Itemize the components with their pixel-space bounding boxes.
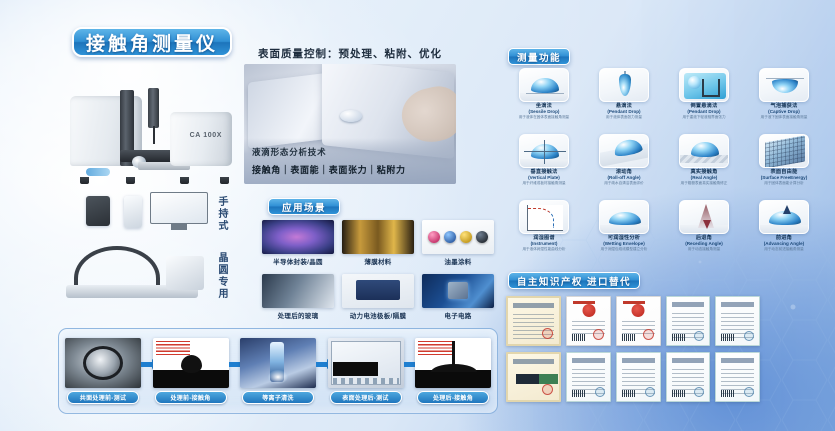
- flow-thumb-plasma-clean: [240, 338, 316, 388]
- cert-emblem: [582, 304, 595, 317]
- droplet-silhouette: [431, 364, 477, 372]
- certificate-item[interactable]: [666, 296, 711, 346]
- function-cell[interactable]: 倒置悬滴法 (Pendant Drop) 用于重液下轻液相界面张力: [666, 68, 742, 128]
- instrument-foot: [220, 177, 229, 184]
- scenario-grid: 半导体封装/晶圆 薄膜材料 油墨涂料 处理: [262, 220, 494, 320]
- flow-arrow-icon: [141, 362, 153, 367]
- real-angle-icon: [679, 134, 729, 168]
- measurement-readout: [418, 341, 452, 357]
- scenario-label: 薄膜材料: [342, 256, 414, 266]
- workstation-monitor: [150, 192, 208, 232]
- battery-electrode-thumb: [342, 274, 414, 308]
- energy-surface-plot: [765, 135, 805, 168]
- instrument-foot: [180, 177, 189, 184]
- infographic-page: 接触角测量仪 CA 100X 手持式 晶圆专用 表面质量控制：预处理、粘附、优化: [0, 0, 835, 431]
- roll-off-angle-icon: [599, 134, 649, 168]
- monitor-screen: [150, 192, 208, 224]
- function-note: 用于液下固体表面接触角测量: [761, 116, 808, 120]
- inverted-pendant-icon: [679, 68, 729, 102]
- vertical-plate-icon: [519, 134, 569, 168]
- ink-cups: [422, 220, 494, 254]
- scenario-item[interactable]: 动力电池极板/隔膜: [342, 274, 414, 320]
- handheld-device-b: [124, 196, 142, 228]
- flow-thumb-contact-angle-before: [153, 338, 229, 388]
- certificate-item[interactable]: [566, 296, 611, 346]
- brand-logo: [86, 168, 110, 176]
- scenario-item[interactable]: 处理后的玻璃: [262, 274, 334, 320]
- software-video-pane: [333, 362, 379, 376]
- scenario-label: 半导体封装/晶圆: [262, 256, 334, 266]
- certificate-item[interactable]: [666, 352, 711, 402]
- function-cell[interactable]: 后退角 (Receding Angle) 用于动态接触角测量: [666, 200, 742, 260]
- flow-step[interactable]: 共面处理前-测试: [65, 338, 141, 404]
- function-note: 用于重液下轻液相界面张力: [682, 116, 725, 120]
- function-note: 用于固体表面能计算分析: [764, 182, 804, 186]
- surface: [760, 225, 808, 233]
- wafer-goniometer-photo: [60, 240, 208, 302]
- scenario-item[interactable]: 薄膜材料: [342, 220, 414, 266]
- flow-step-label: 共面处理前-测试: [67, 391, 139, 404]
- function-cell[interactable]: 气泡捕获法 (Captive Drop) 用于液下固体表面接触角测量: [746, 68, 822, 128]
- droplet: [609, 212, 641, 225]
- function-note: 用于动态前进接触角测量: [764, 248, 804, 252]
- crosshair-horizontal: [524, 151, 566, 152]
- cert-seal: [744, 387, 754, 397]
- function-cell[interactable]: 表面自由能 (Surface FreeEnergy) 用于固体表面能计算分析: [746, 134, 822, 194]
- sessile-drop-icon: [519, 68, 569, 102]
- battery-module: [356, 280, 400, 300]
- handheld-device-a: [86, 196, 110, 226]
- surface-quality-card: 表面质量控制：预处理、粘附、优化 液滴形态分析技术 接触角｜表面能｜表面张力｜粘…: [244, 46, 456, 185]
- receding-arrow-icon: [703, 220, 711, 229]
- certificate-item[interactable]: [715, 296, 760, 346]
- surface: [600, 225, 648, 233]
- electronic-circuit-thumb: [422, 274, 494, 308]
- cert-title-bar: [721, 358, 754, 363]
- function-cell[interactable]: 润湿图谱 (Instrument) 用于液体润湿性能曲线分析: [506, 200, 582, 260]
- certificate-item[interactable]: [506, 296, 561, 346]
- flow-step-label: 等离子清洗: [242, 391, 314, 404]
- certificate-item[interactable]: [616, 352, 661, 402]
- droplet: [531, 78, 559, 93]
- flow-step-label: 处理后-接触角: [417, 391, 489, 404]
- goniometer-camera-box: [166, 256, 204, 290]
- monitor-stand: [171, 224, 187, 230]
- scenario-panel: 半导体封装/晶圆 薄膜材料 油墨涂料 处理: [262, 220, 494, 328]
- caption-overlay: [244, 138, 456, 184]
- function-note: 用于纤维或板材接触角测量: [522, 182, 565, 186]
- droplet: [688, 76, 701, 89]
- function-note: 用于润湿包络线模型建立分析: [601, 248, 648, 252]
- flow-arrow-icon: [229, 362, 241, 367]
- page-title: 接触角测量仪: [72, 27, 232, 57]
- scenario-label: 油墨涂料: [422, 256, 494, 266]
- ink-dot: [428, 231, 440, 243]
- flow-step[interactable]: 表面处理后-测试: [328, 338, 404, 404]
- cert-seal: [595, 387, 605, 397]
- certificate-item[interactable]: [506, 352, 561, 402]
- cert-title-bar: [672, 302, 705, 307]
- cert-title-bar: [513, 359, 554, 364]
- function-cell[interactable]: 滚动角 (Roll-off Angle) 用于疏水自清洁表面评价: [586, 134, 662, 194]
- flow-thumb-contact-angle-after: [415, 338, 491, 388]
- semiconductor-wafer-thumb: [262, 220, 334, 254]
- ink-dot: [444, 231, 456, 243]
- surface-quality-photo: 液滴形态分析技术 接触角｜表面能｜表面张力｜粘附力: [244, 64, 456, 184]
- function-cell[interactable]: 悬滴法 (Pendant Drop) 用于液体表面张力测量: [586, 68, 662, 128]
- cert-title-bar: [672, 358, 705, 363]
- cert-plaque: [516, 374, 558, 384]
- process-flow-strip: 共面处理前-测试 处理前-接触角 等离子清洗: [58, 328, 498, 414]
- instrument-right-body: CA 100X: [170, 112, 232, 166]
- scenario-item[interactable]: 电子电路: [422, 274, 494, 320]
- cert-emblem: [632, 304, 645, 317]
- flow-arrow-icon: [404, 362, 416, 367]
- wetting-chart-icon: [519, 200, 569, 234]
- cert-barcode: [672, 390, 686, 397]
- pendant-drop-icon: [599, 68, 649, 102]
- cert-title-bar: [721, 302, 754, 307]
- scenario-label: 电子电路: [422, 310, 494, 320]
- flow-step[interactable]: 等离子清洗: [240, 338, 316, 404]
- cert-title-bar: [572, 358, 605, 363]
- function-cell[interactable]: 垂直接触法 (Vertical Plate) 用于纤维或板材接触角测量: [506, 134, 582, 194]
- droplet-silhouette: [181, 355, 202, 373]
- droplet: [691, 142, 719, 157]
- wafer-label: 晶圆专用: [214, 252, 229, 300]
- function-note: 用于动态接触角测量: [688, 248, 720, 252]
- cert-title-bar: [622, 358, 655, 363]
- measurement-functions-grid: 坐滴法 (Sessile Drop) 用于液体在固体表面接触角测量 悬滴法 (P…: [506, 68, 822, 260]
- flow-thumb-metal-part: [65, 338, 141, 388]
- cert-barcode: [622, 390, 636, 397]
- certificate-item[interactable]: [566, 352, 611, 402]
- flow-step[interactable]: 处理后-接触角: [415, 338, 491, 404]
- chip: [448, 282, 468, 299]
- flow-step-label: 表面处理后-测试: [330, 391, 402, 404]
- caption-technology: 液滴形态分析技术: [252, 146, 326, 158]
- bubble: [772, 79, 798, 93]
- certificate-row: [506, 352, 760, 402]
- cell-frame: [702, 79, 720, 97]
- treated-glass-thumb: [262, 274, 334, 308]
- main-instrument-photo: CA 100X: [62, 74, 237, 182]
- cert-seal: [542, 384, 553, 395]
- certificate-item[interactable]: [715, 352, 760, 402]
- function-cell[interactable]: 坐滴法 (Sessile Drop) 用于液体在固体表面接触角测量: [506, 68, 582, 128]
- scenario-item[interactable]: 半导体封装/晶圆: [262, 220, 334, 266]
- cert-seal: [645, 387, 655, 397]
- captive-bubble-icon: [759, 68, 809, 102]
- metal-disc: [83, 346, 123, 380]
- film-material-thumb: [342, 220, 414, 254]
- instrument-foot: [80, 177, 89, 184]
- substrate: [415, 370, 491, 388]
- surface: [520, 93, 568, 101]
- function-note: 用于液体润湿性能曲线分析: [522, 248, 565, 252]
- function-cell[interactable]: 前进角 (Advancing Angle) 用于动态前进接触角测量: [746, 200, 822, 260]
- ink-dot: [476, 231, 488, 243]
- instrument-foot: [126, 177, 135, 184]
- certificate-item[interactable]: [616, 296, 661, 346]
- baseline: [766, 78, 804, 79]
- caption-metrics: 接触角｜表面能｜表面张力｜粘附力: [252, 163, 406, 176]
- cert-red-header: [623, 301, 645, 304]
- instrument-model-label: CA 100X: [190, 132, 222, 139]
- scenario-item[interactable]: 油墨涂料: [422, 220, 494, 266]
- flow-arrow-icon: [316, 362, 328, 367]
- function-note: 用于液体在固体表面接触角测量: [519, 116, 569, 120]
- scenario-label: 处理后的玻璃: [262, 310, 334, 320]
- cert-seal: [694, 387, 704, 397]
- certificates-panel: [506, 296, 760, 408]
- cert-barcode: [622, 334, 636, 341]
- wetting-envelope-icon: [599, 200, 649, 234]
- droplet: [619, 74, 631, 96]
- cert-barcode: [572, 390, 586, 397]
- measurement-readout: [156, 341, 190, 357]
- cert-seal: [643, 329, 654, 340]
- software-toolbar: [333, 378, 399, 384]
- instrument-dosing-arm: [148, 88, 159, 128]
- crosshair-vertical: [544, 140, 545, 164]
- surface-energy-icon: [759, 134, 809, 168]
- baseline: [526, 93, 564, 94]
- ink-dot: [460, 231, 472, 243]
- flow-thumb-software-test: [328, 338, 404, 388]
- function-cell[interactable]: 真实接触角 (Real Angle) 用于粗糙表面真实接触角修正: [666, 134, 742, 194]
- advancing-arrow-icon: [783, 205, 791, 214]
- function-note: 用于疏水自清洁表面评价: [604, 182, 644, 186]
- plasma-glow: [268, 370, 288, 384]
- cert-barcode: [572, 334, 586, 341]
- function-note: 用于粗糙表面真实接触角修正: [681, 182, 728, 186]
- instrument-needle: [153, 126, 155, 144]
- surface-quality-title: 表面质量控制：预处理、粘附、优化: [244, 46, 456, 61]
- section-badge-scenario: 应用场景: [268, 198, 340, 215]
- plot-grid: [765, 135, 805, 168]
- scenario-label: 动力电池极板/隔膜: [342, 310, 414, 320]
- cert-seal: [694, 331, 704, 341]
- cert-barcode: [721, 390, 735, 397]
- cert-seal: [593, 329, 604, 340]
- cert-barcode: [721, 334, 735, 341]
- function-note: 用于液体表面张力测量: [606, 116, 642, 120]
- receding-angle-icon: [679, 200, 729, 234]
- function-cell[interactable]: 可润湿性分析 (Wetting Envelope) 用于润湿包络线模型建立分析: [586, 200, 662, 260]
- section-badge-functions: 测量功能: [508, 48, 570, 65]
- cert-red-header: [573, 301, 595, 304]
- ink-coating-thumb: [422, 220, 494, 254]
- certificate-row: [506, 296, 760, 346]
- cert-seal: [744, 331, 754, 341]
- section-badge-ip: 自主知识产权 进口替代: [508, 272, 640, 289]
- advancing-angle-icon: [759, 200, 809, 234]
- cert-title-bar: [513, 303, 554, 308]
- flow-step[interactable]: 处理前-接触角: [153, 338, 229, 404]
- handheld-label: 手持式: [214, 196, 229, 232]
- cert-barcode: [672, 334, 686, 341]
- droplet: [340, 110, 362, 122]
- flow-step-label: 处理前-接触角: [155, 391, 227, 404]
